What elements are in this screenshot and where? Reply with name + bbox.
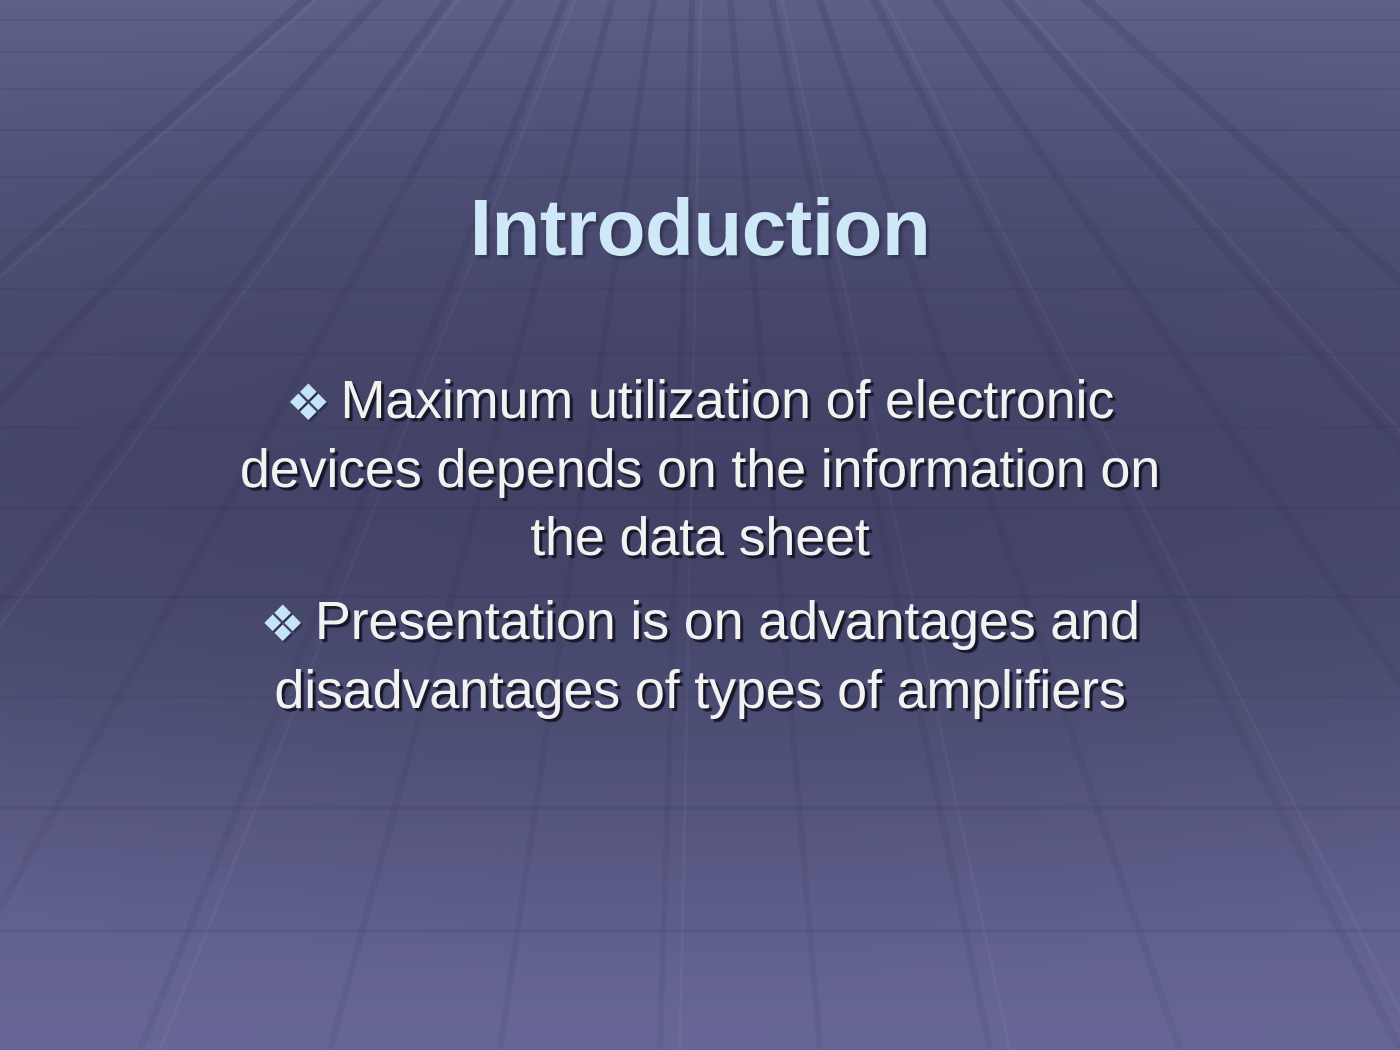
slide-body: ❖Maximum utilization of electronic devic… <box>200 366 1200 724</box>
bullet-text: Maximum utilization of electronic device… <box>240 370 1160 567</box>
bullet-item: ❖Maximum utilization of electronic devic… <box>200 366 1200 571</box>
bullet-text: Presentation is on advantages and disadv… <box>274 591 1139 720</box>
bullet-item: ❖Presentation is on advantages and disad… <box>200 587 1200 724</box>
slide-title: Introduction <box>0 186 1400 270</box>
diamond-bullet-icon: ❖ <box>260 596 315 652</box>
presentation-slide: Introduction ❖Maximum utilization of ele… <box>0 0 1400 1050</box>
diamond-bullet-icon: ❖ <box>286 375 341 431</box>
slide-content: Introduction ❖Maximum utilization of ele… <box>0 0 1400 1050</box>
